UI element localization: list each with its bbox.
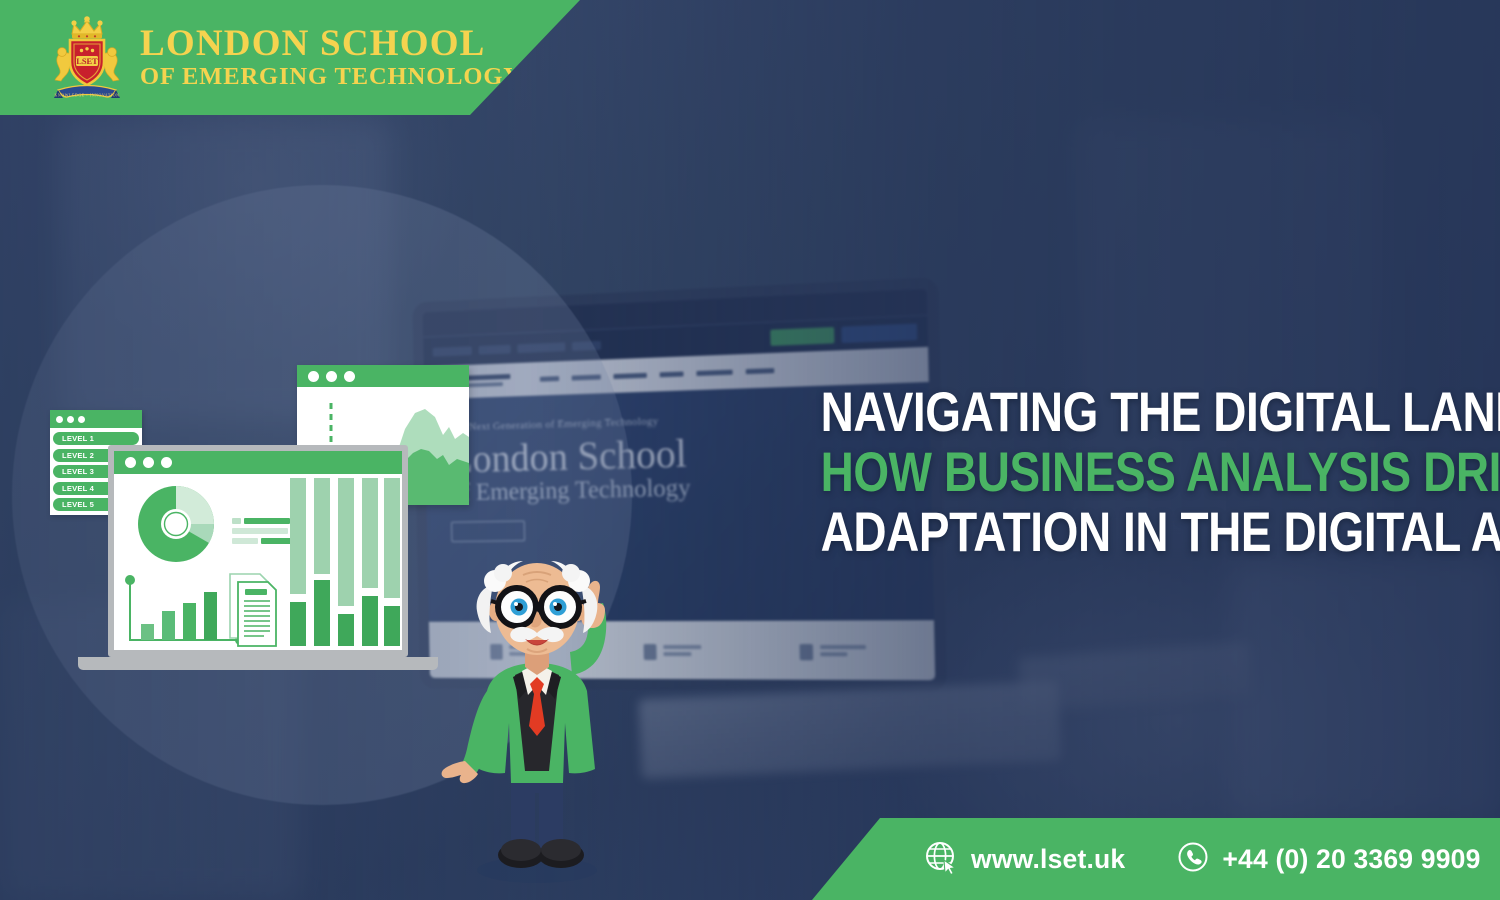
phone-contact[interactable]: +44 (0) 20 3369 9909 <box>1177 841 1480 878</box>
laptop-base <box>78 657 438 670</box>
line-bar-chart <box>125 575 245 645</box>
list-item: LEVEL 1 <box>53 432 139 445</box>
document-stack <box>230 574 276 646</box>
window-titlebar <box>297 365 469 387</box>
laptop-screen <box>108 445 408 657</box>
phone-circle-icon <box>1177 841 1209 878</box>
donut-chart <box>138 486 214 562</box>
brand-logo-text: LONDON SCHOOL OF EMERGING TECHNOLOGY <box>140 25 522 90</box>
professor-mascot <box>415 545 660 885</box>
window-titlebar <box>114 451 402 474</box>
globe-cursor-icon <box>924 840 958 879</box>
contact-footer: www.lset.uk +44 (0) 20 3369 9909 <box>812 818 1500 900</box>
window-dot-icon <box>161 457 172 468</box>
window-titlebar <box>50 410 142 428</box>
window-dot-icon <box>56 416 63 423</box>
window-dot-icon <box>326 371 337 382</box>
phone-text: +44 (0) 20 3369 9909 <box>1222 844 1480 875</box>
window-dot-icon <box>67 416 74 423</box>
window-dot-icon <box>78 416 85 423</box>
website-contact[interactable]: www.lset.uk <box>924 840 1125 879</box>
stacked-bars <box>290 478 400 646</box>
lset-crest-icon: LSET KNOWLEDGE • INNOVATION <box>48 14 126 102</box>
headline: NAVIGATING THE DIGITAL LANDSCAPE HOW BUS… <box>682 382 1452 562</box>
laptop-dashboard <box>108 445 408 670</box>
website-text: www.lset.uk <box>971 844 1125 875</box>
window-dot-icon <box>143 457 154 468</box>
dashboard-body <box>114 474 402 650</box>
headline-line-2: HOW BUSINESS ANALYSIS DRIVES <box>821 442 1452 502</box>
window-dot-icon <box>344 371 355 382</box>
brand-name-line1: LONDON SCHOOL <box>140 25 522 62</box>
brand-name-line2: OF EMERGING TECHNOLOGY <box>140 65 522 90</box>
headline-line-1: NAVIGATING THE DIGITAL LANDSCAPE <box>821 382 1452 442</box>
window-dot-icon <box>308 371 319 382</box>
svg-text:LSET: LSET <box>76 57 98 66</box>
svg-text:KNOWLEDGE • INNOVATION: KNOWLEDGE • INNOVATION <box>54 93 119 97</box>
headline-line-3: ADAPTATION IN THE DIGITAL AGE <box>821 502 1452 562</box>
window-dot-icon <box>125 457 136 468</box>
